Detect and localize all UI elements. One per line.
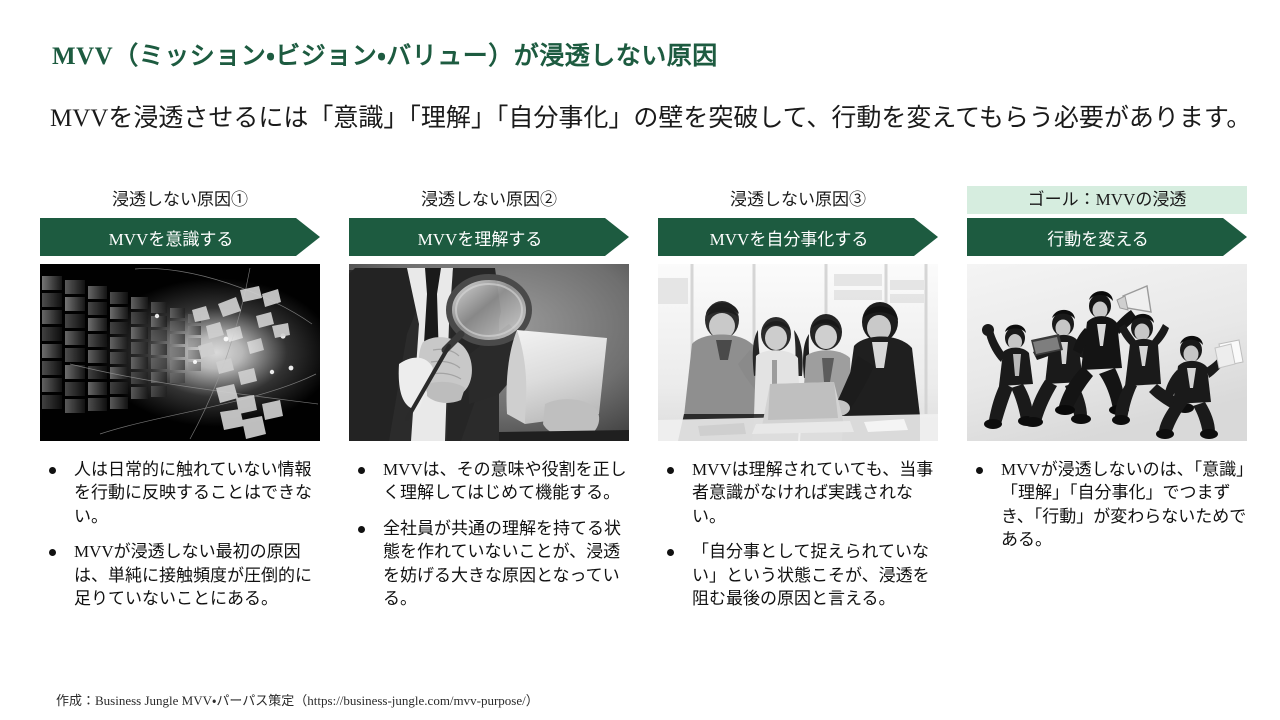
column-1: 浸透しない原因① MVVを意識する (40, 186, 320, 656)
column-2: 浸透しない原因② MVVを理解する (349, 186, 629, 656)
list-item: 「自分事として捉えられていない」という状態こそが、浸透を阻む最後の原因と言える。 (658, 540, 938, 610)
column-caption-4: ゴール：MVVの浸透 (967, 186, 1247, 214)
magnifier-document-photo (349, 264, 629, 441)
column-caption-3: 浸透しない原因③ (658, 186, 938, 214)
stage-banner-4: 行動を変える (967, 218, 1247, 256)
list-item: MVVが浸透しないのは、「意識」「理解」「自分事化」でつまずき、「行動」が変わら… (967, 458, 1247, 552)
stage-banner-label-1: MVVを意識する (109, 225, 234, 250)
column-3: 浸透しない原因③ MVVを自分事化する (658, 186, 938, 656)
columns-container: 浸透しない原因① MVVを意識する (40, 186, 1250, 656)
bullet-list-2: MVVは、その意味や役割を正しく理解してはじめて機能する。 全社員が共通の理解を… (349, 458, 629, 611)
list-item: MVVが浸透しない最初の原因は、単純に接触頻度が圧倒的に足りていないことにある。 (40, 540, 320, 610)
page-subtitle: MVVを浸透させるには「意識」「理解」「自分事化」の壁を突破して、行動を変えても… (50, 98, 1251, 134)
list-item: MVVは、その意味や役割を正しく理解してはじめて機能する。 (349, 458, 629, 505)
source-credit: 作成：Business Jungle MVV・パーパス策定（https://bu… (56, 690, 539, 709)
jumping-team-megaphone-photo (967, 264, 1247, 441)
stage-banner-label-2: MVVを理解する (418, 225, 543, 250)
list-item: MVVは理解されていても、当事者意識がなければ実践されない。 (658, 458, 938, 528)
list-item: 人は日常的に触れていない情報を行動に反映することはできない。 (40, 458, 320, 528)
list-item: 全社員が共通の理解を持てる状態を作れていないことが、浸透を妨げる大きな原因となっ… (349, 517, 629, 611)
stage-banner-2: MVVを理解する (349, 218, 629, 256)
stage-banner-1: MVVを意識する (40, 218, 320, 256)
page-title: MVV（ミッション・ビジョン・バリュー）が浸透しない原因 (52, 36, 718, 72)
slide-canvas: MVV（ミッション・ビジョン・バリュー）が浸透しない原因 MVVを浸透させるには… (0, 0, 1280, 720)
bullet-list-1: 人は日常的に触れていない情報を行動に反映することはできない。 MVVが浸透しない… (40, 458, 320, 611)
stage-banner-label-3: MVVを自分事化する (710, 225, 869, 250)
media-wall-digital-head-photo (40, 264, 320, 441)
bullet-list-3: MVVは理解されていても、当事者意識がなければ実践されない。 「自分事として捉え… (658, 458, 938, 611)
column-caption-1: 浸透しない原因① (40, 186, 320, 214)
column-4: ゴール：MVVの浸透 行動を変える (967, 186, 1247, 656)
stage-banner-label-4: 行動を変える (1047, 225, 1149, 250)
team-meeting-laptop-photo (658, 264, 938, 441)
column-caption-2: 浸透しない原因② (349, 186, 629, 214)
stage-banner-3: MVVを自分事化する (658, 218, 938, 256)
bullet-list-4: MVVが浸透しないのは、「意識」「理解」「自分事化」でつまずき、「行動」が変わら… (967, 458, 1247, 552)
